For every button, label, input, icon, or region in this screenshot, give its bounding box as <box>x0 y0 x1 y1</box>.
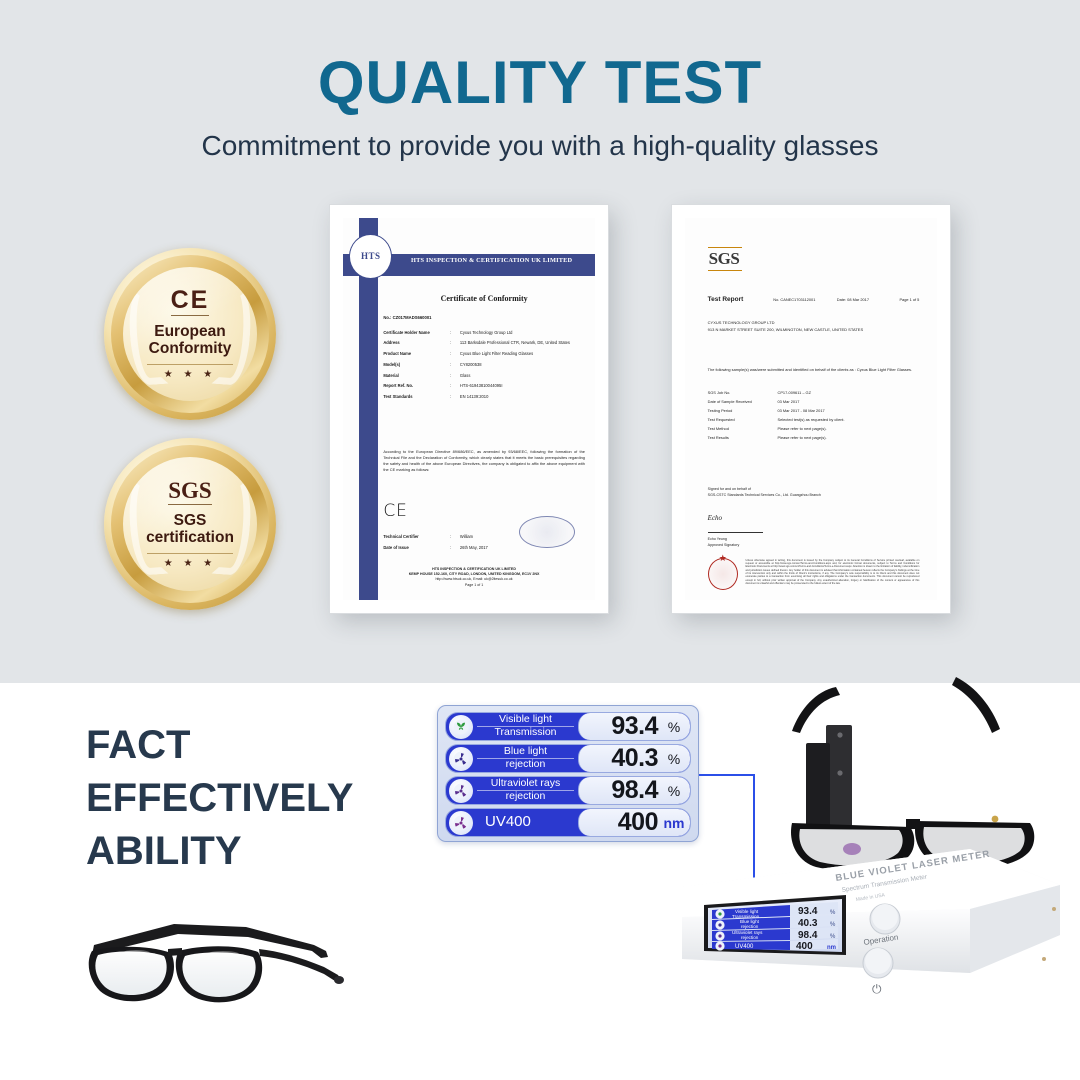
hts-footer-line4: Page 1 of 1 <box>368 583 580 588</box>
hts-sign-key: Date of Issue <box>383 546 450 551</box>
sgs-badge: SGS SGS certification ★ ★ ★ <box>104 438 276 610</box>
hts-sign-value: 26th May, 2017 <box>460 546 585 551</box>
sgs-badge-line2: certification <box>146 529 234 546</box>
sgs-signed-for: Signed for and on behalf of SGS-CSTC Sta… <box>708 487 920 498</box>
hts-field-row: Model(s) : CY8200538 <box>383 363 585 368</box>
hts-field-colon: : <box>450 363 460 368</box>
sgs-report-date: Date: 08 Mar 2017 <box>837 297 884 302</box>
hts-sign-colon: : <box>450 535 460 540</box>
sgs-field-row: Test Requested Selected test(s) as reque… <box>708 417 920 422</box>
device-screen-value-1: 93.4 <box>798 906 818 917</box>
ce-badge: CE European Conformity ★ ★ ★ <box>104 248 276 420</box>
sgs-field-row: SGS Job No. CP17-009611 – GZ <box>708 390 920 395</box>
sgs-field-key: Test Requested <box>708 417 778 422</box>
sgs-field-value: Please refer to next page(s). <box>778 435 920 440</box>
ce-badge-face: CE European Conformity ★ ★ ★ <box>123 267 257 401</box>
laser-meter-device: BLUE VIOLET LASER METER Spectrum Transmi… <box>682 849 1060 996</box>
sgs-field-row: Test Method Please refer to next page(s)… <box>708 426 920 431</box>
hts-field-colon: : <box>450 331 460 336</box>
leaf-icon <box>449 715 473 739</box>
sgs-logo-icon: SGS <box>708 247 743 271</box>
quality-test-infographic: QUALITY TEST Commitment to provide you w… <box>0 0 1080 1080</box>
hts-ce-mark-icon: CE <box>383 501 408 521</box>
ce-badge-stars: ★ ★ ★ <box>164 369 216 380</box>
sgs-field-value: Please refer to next page(s). <box>778 426 920 431</box>
sgs-report-number: No. CANEC1703112001 <box>773 297 837 302</box>
sgs-report-page: Page 1 of 5 <box>883 297 919 302</box>
hts-field-value: CY8200538 <box>460 363 585 368</box>
device-screen-value-2: 40.3 <box>798 918 818 929</box>
sgs-client-name: CYXUS TECHNOLOGY GROUP LTD <box>708 319 920 326</box>
sgs-badge-line1: SGS <box>174 512 207 529</box>
spec-label-line2: rejection <box>506 790 546 802</box>
laurel-right-icon <box>212 472 254 576</box>
hts-seal-icon: HTS <box>349 234 392 279</box>
fact-heading-line2: EFFECTIVELY <box>86 772 416 825</box>
page-subtitle: Commitment to provide you with a high-qu… <box>0 130 1080 162</box>
spec-label-uv-rejection: Ultraviolet rays rejection <box>473 778 578 803</box>
certificate-frame-hts: HTS HTS INSPECTION & CERTIFICATION UK LI… <box>330 205 608 613</box>
fact-heading-line3: ABILITY <box>86 825 416 878</box>
sgs-field-value: Selected test(s) as requested by client. <box>778 417 920 422</box>
sample-glasses <box>791 677 1034 871</box>
hts-field-value: EN 14139:2010 <box>460 395 585 400</box>
device-screen-unit-3: % <box>830 934 836 940</box>
sgs-report-title: Test Report <box>708 296 774 303</box>
hts-field-row: Address : 113 Barksdale Professional CTR… <box>383 341 585 346</box>
device-screen: 93.4 % Visible light Transmission 40.3 %… <box>704 895 846 955</box>
hts-field-value: Cyxus Blue Light Filter Reading Glasses <box>460 352 585 357</box>
hts-sign-colon: : <box>450 546 460 551</box>
device-screen-unit-4: nm <box>827 945 836 951</box>
device-screen-unit-2: % <box>830 922 836 928</box>
sgs-field-value: 03 Mar 2017 <box>778 399 920 404</box>
fact-heading-line1: FACT <box>86 719 416 772</box>
device-screen-label-3b: rejection <box>741 935 759 940</box>
hts-field-row: Report Ref. No. : HTS-61943810044095I <box>383 384 585 389</box>
radiation-icon <box>449 811 473 835</box>
device-screen-unit-1: % <box>830 910 836 916</box>
bottom-section: FACT EFFECTIVELY ABILITY Visible light T… <box>0 683 1080 1080</box>
spec-label-uv400: UV400 <box>473 814 578 831</box>
certificate-hts-paper: HTS HTS INSPECTION & CERTIFICATION UK LI… <box>343 218 595 600</box>
fact-heading: FACT EFFECTIVELY ABILITY <box>86 719 416 879</box>
ce-badge-line1: European <box>154 323 225 340</box>
spec-label-blue-light: Blue light rejection <box>473 746 578 771</box>
sgs-field-list: SGS Job No. CP17-009611 – GZ Date of Sam… <box>708 390 920 444</box>
hts-field-row: Product Name : Cyxus Blue Light Filter R… <box>383 352 585 357</box>
sgs-field-value: 03 Mar 2017 - 08 Mar 2017 <box>778 408 920 413</box>
hts-field-key: Test Standards <box>383 395 450 400</box>
hts-field-key: Report Ref. No. <box>383 384 450 389</box>
hts-field-row: Test Standards : EN 14139:2010 <box>383 395 585 400</box>
radiation-icon <box>449 779 473 803</box>
sgs-field-row: Test Results Please refer to next page(s… <box>708 435 920 440</box>
hts-field-key: Address <box>383 341 450 346</box>
hts-field-list: Certificate Holder Name : Cyxus Technolo… <box>383 331 585 406</box>
power-button: ⏻ <box>863 948 893 996</box>
ce-badge-divider <box>147 364 233 365</box>
hts-field-colon: : <box>450 384 460 389</box>
sgs-report-header: Test Report No. CANEC1703112001 Date: 08… <box>708 296 920 303</box>
device-screen-value-4: 400 <box>796 941 813 952</box>
sgs-stamp-icon: ★ <box>708 558 738 590</box>
device-screen-label-2b: rejection <box>741 924 759 929</box>
sgs-client-block: CYXUS TECHNOLOGY GROUP LTD 913 N MARKET … <box>708 319 920 333</box>
spec-label-visible-light: Visible light Transmission <box>473 714 578 739</box>
hts-field-colon: : <box>450 395 460 400</box>
certificate-sgs-paper: SGS Test Report No. CANEC1703112001 Date… <box>685 218 937 600</box>
spec-label-line1: Blue light <box>477 746 574 759</box>
sgs-intro-text: The following sample(s) was/were submitt… <box>708 367 920 372</box>
hts-field-value: HTS-61943810044095I <box>460 384 585 389</box>
hts-title: Certificate of Conformity <box>383 294 585 303</box>
hts-field-key: Material <box>383 374 450 379</box>
hts-field-value: 113 Barksdale Professional CTR, Newark, … <box>460 341 585 346</box>
sgs-field-row: Testing Period 03 Mar 2017 - 08 Mar 2017 <box>708 408 920 413</box>
sgs-field-row: Date of Sample Received 03 Mar 2017 <box>708 399 920 404</box>
spec-label-line1: Visible light <box>477 714 574 727</box>
sgs-signatory-block: Echo Yeung Approved Signatory <box>708 537 740 549</box>
sgs-mark-icon: SGS <box>168 479 211 505</box>
hts-certificate-number: No.: CZ017MADS660001 <box>383 315 431 320</box>
sgs-badge-face: SGS SGS certification ★ ★ ★ <box>123 457 257 591</box>
hts-organization: HTS INSPECTION & CERTIFICATION UK LIMITE… <box>396 257 588 264</box>
laser-meter-scene: BLUE VIOLET LASER METER Spectrum Transmi… <box>640 673 1080 1073</box>
sgs-signature-line <box>708 532 763 533</box>
sgs-badge-stars: ★ ★ ★ <box>164 558 216 569</box>
sgs-signed-line2: SGS-CSTC Standards Technical Services Co… <box>708 493 920 498</box>
hts-field-colon: : <box>450 341 460 346</box>
sgs-field-key: Date of Sample Received <box>708 399 778 404</box>
sgs-client-address: 913 N MARKET STREET SUITE 200, WILMINGTO… <box>708 326 920 333</box>
hts-field-colon: : <box>450 374 460 379</box>
radiation-icon <box>449 747 473 771</box>
sgs-field-key: SGS Job No. <box>708 390 778 395</box>
power-icon: ⏻ <box>872 982 882 996</box>
sgs-stamp-star-icon: ★ <box>719 553 727 564</box>
sgs-signatory-title: Approved Signatory <box>708 543 740 549</box>
laurel-left-icon <box>126 472 168 576</box>
certificate-frame-sgs: SGS Test Report No. CANEC1703112001 Date… <box>672 205 950 613</box>
hts-paragraph: According to the European Directive 89/6… <box>383 449 585 472</box>
hts-field-key: Certificate Holder Name <box>383 331 450 336</box>
sgs-field-key: Test Results <box>708 435 778 440</box>
hts-stamp-icon <box>519 516 574 548</box>
hts-sign-key: Technical Certifier <box>383 535 450 540</box>
hts-field-value: Glass <box>460 374 585 379</box>
hts-field-colon: : <box>450 352 460 357</box>
ce-mark-icon: CE <box>171 288 210 316</box>
hts-seal-text: HTS <box>361 251 381 261</box>
sgs-badge-divider <box>147 553 233 554</box>
hts-field-key: Product Name <box>383 352 450 357</box>
spec-label-line2: rejection <box>506 758 546 770</box>
device-screen-value-3: 98.4 <box>798 930 818 941</box>
sgs-legal-text: Unless otherwise agreed in writing, this… <box>745 559 919 585</box>
hts-field-value: Cyxus Technology Group Ltd <box>460 331 585 336</box>
sgs-field-value: CP17-009611 – GZ <box>778 390 920 395</box>
sgs-signature: Echo <box>708 514 722 522</box>
hts-footer: HTS INSPECTION & CERTIFICATION UK LIMITE… <box>368 567 580 588</box>
top-section: QUALITY TEST Commitment to provide you w… <box>0 0 1080 683</box>
ce-badge-line2: Conformity <box>149 340 232 357</box>
device-screen-label-4: UV400 <box>735 944 754 950</box>
spec-label-line1: Ultraviolet rays <box>477 778 574 791</box>
sgs-field-key: Testing Period <box>708 408 778 413</box>
glasses-product-photo <box>78 901 346 1011</box>
hts-field-row: Certificate Holder Name : Cyxus Technolo… <box>383 331 585 336</box>
sgs-field-key: Test Method <box>708 426 778 431</box>
hts-field-key: Model(s) <box>383 363 450 368</box>
spec-label-line2: Transmission <box>494 726 556 738</box>
page-title: QUALITY TEST <box>0 48 1080 117</box>
hts-field-row: Material : Glass <box>383 374 585 379</box>
